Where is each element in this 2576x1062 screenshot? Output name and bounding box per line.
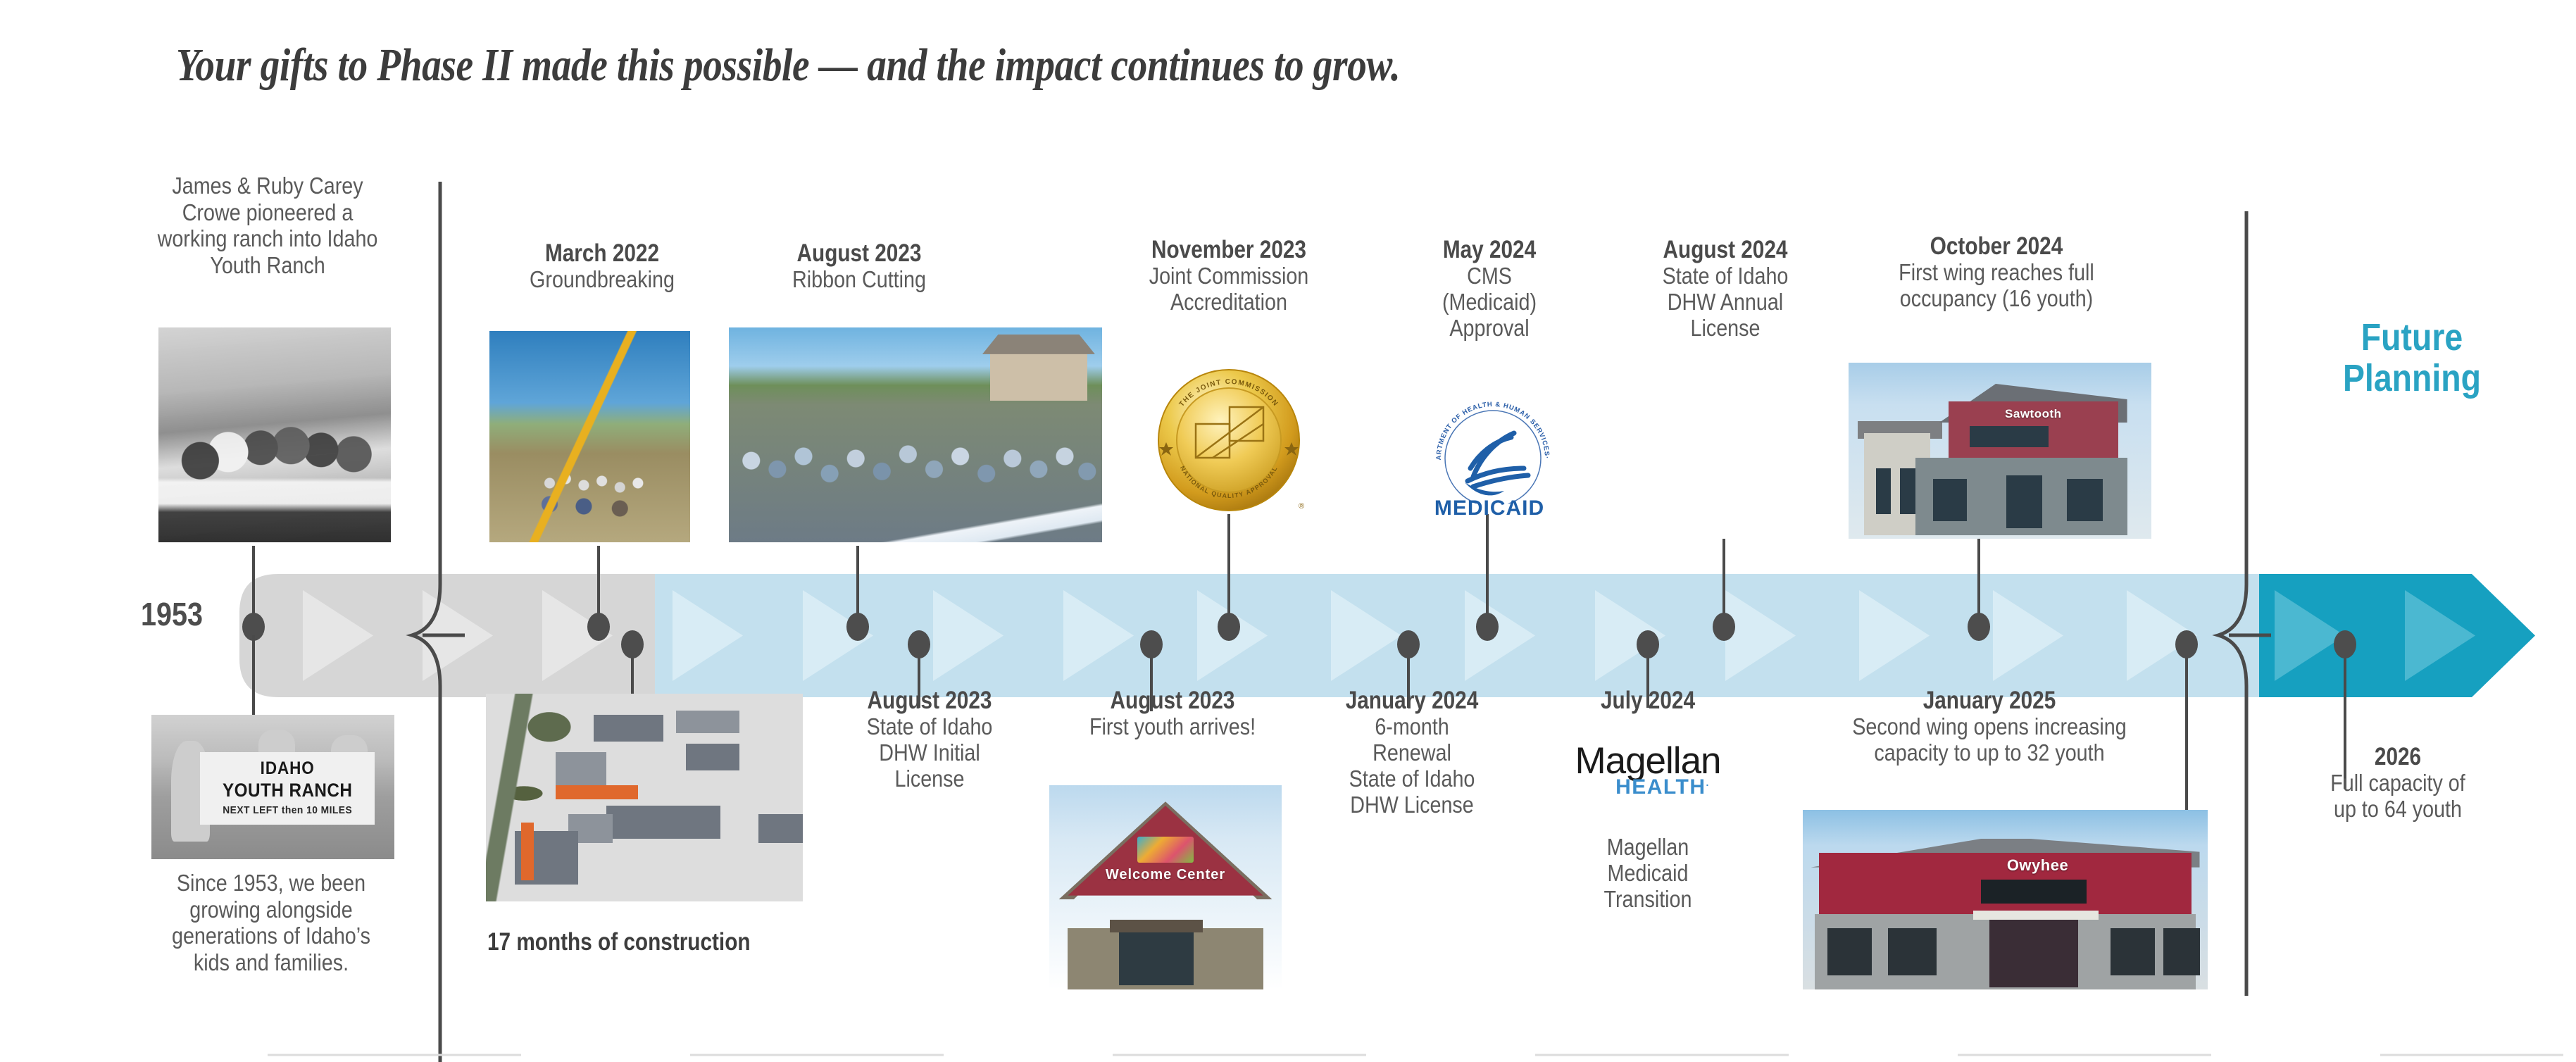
event-january-2025: January 2025 Second wing opens increasin…: [1803, 687, 2176, 766]
construction-caption: 17 months of construction: [487, 928, 751, 956]
event-august-2023-initial-license: August 2023 State of Idaho DHW Initial L…: [817, 687, 1042, 792]
event-august-2023-ribbon: August 2023 Ribbon Cutting: [729, 239, 989, 293]
groundbreaking-photo: [489, 331, 690, 542]
sign-line-3: NEXT LEFT then 10 MILES: [207, 804, 368, 816]
event-date: March 2022: [492, 239, 713, 267]
intro-bottom-text: Since 1953, we been growing alongside ge…: [151, 870, 390, 975]
event-july-2024-desc: Magellan Medicaid Transition: [1542, 835, 1753, 913]
event-date: January 2024: [1323, 687, 1502, 714]
event-desc: Magellan Medicaid Transition: [1556, 835, 1740, 913]
family-dinner-photo: [158, 327, 391, 542]
event-date: August 2023: [749, 239, 970, 267]
magellan-dot: .: [1706, 777, 1710, 788]
future-planning-line1: Future: [2312, 317, 2512, 358]
event-desc: State of Idaho DHW Initial License: [832, 714, 1027, 792]
event-november-2023: November 2023 Joint Commission Accredita…: [1099, 236, 1359, 316]
intro-top-text: James & Ruby Carey Crowe pioneered a wor…: [151, 173, 384, 278]
event-desc: CMS (Medicaid) Approval: [1398, 263, 1582, 342]
welcome-center-sign-text: Welcome Center: [1049, 867, 1282, 883]
idaho-youth-ranch-logo-icon: [1137, 837, 1193, 863]
welcome-center-photo: Welcome Center: [1049, 785, 1282, 989]
event-january-2024: January 2024 6-month Renewal State of Id…: [1306, 687, 1518, 818]
magellan-health-text: HEALTH: [1615, 775, 1706, 799]
svg-text:®: ®: [1299, 502, 1304, 511]
event-august-2023-first-youth: August 2023 First youth arrives!: [1042, 687, 1303, 740]
event-date: August 2023: [1062, 687, 1284, 714]
idaho-youth-ranch-sign-photo: IDAHO YOUTH RANCH NEXT LEFT then 10 MILE…: [151, 715, 394, 859]
event-desc: Joint Commission Accreditation: [1115, 263, 1342, 316]
event-july-2024: July 2024: [1542, 687, 1753, 714]
event-desc: 6-month Renewal State of Idaho DHW Licen…: [1320, 714, 1504, 818]
sawtooth-building-photo: Sawtooth: [1849, 363, 2151, 539]
future-planning-line2: Planning: [2312, 358, 2512, 399]
hhs-medicaid-logo: DEPARTMENT OF HEALTH & HUMAN SERVICES·US…: [1430, 398, 1556, 504]
event-date: 2026: [2299, 743, 2497, 770]
future-planning-label: Future Planning: [2312, 317, 2512, 399]
event-desc: Full capacity of up to 64 youth: [2296, 770, 2499, 823]
sign-line-1: IDAHO: [208, 758, 366, 779]
event-may-2024: May 2024 CMS (Medicaid) Approval: [1384, 236, 1595, 342]
sign-line-2: YOUTH RANCH: [208, 780, 366, 801]
page-title: Your gifts to Phase II made this possibl…: [176, 39, 2010, 92]
owyhee-building-photo: Owyhee: [1803, 810, 2208, 989]
event-desc: First wing reaches full occupancy (16 yo…: [1856, 260, 2137, 312]
event-2026: 2026 Full capacity of up to 64 youth: [2282, 743, 2514, 823]
joint-commission-seal: THE JOINT COMMISSION NATIONAL QUALITY AP…: [1148, 359, 1310, 521]
event-march-2022: March 2022 Groundbreaking: [472, 239, 732, 293]
event-date: July 2024: [1558, 687, 1738, 714]
aerial-construction-photo: [486, 694, 803, 901]
event-date: January 2025: [1831, 687, 2149, 714]
medicaid-wordmark: MEDICAID: [1384, 496, 1595, 520]
event-date: August 2024: [1630, 236, 1821, 263]
event-desc: Groundbreaking: [489, 267, 715, 293]
event-date: October 2024: [1859, 232, 2134, 260]
event-desc: State of Idaho DHW Annual License: [1627, 263, 1823, 342]
event-date: May 2024: [1400, 236, 1580, 263]
sawtooth-sign-text: Sawtooth: [1949, 407, 2118, 421]
timeline-start-year: 1953: [141, 595, 203, 633]
ribbon-cutting-photo: [729, 327, 1102, 542]
magellan-health-logo: Magellan HEALTH.: [1542, 739, 1753, 799]
event-october-2024: October 2024 First wing reaches full occ…: [1834, 232, 2158, 312]
event-desc: First youth arrives!: [1059, 714, 1286, 740]
owyhee-sign-text: Owyhee: [1981, 856, 2094, 875]
event-desc: Second wing opens increasing capacity to…: [1827, 714, 2151, 766]
event-date: August 2023: [834, 687, 1025, 714]
event-august-2024: August 2024 State of Idaho DHW Annual Li…: [1613, 236, 1838, 342]
event-date: November 2023: [1118, 236, 1340, 263]
event-desc: Ribbon Cutting: [746, 267, 973, 293]
